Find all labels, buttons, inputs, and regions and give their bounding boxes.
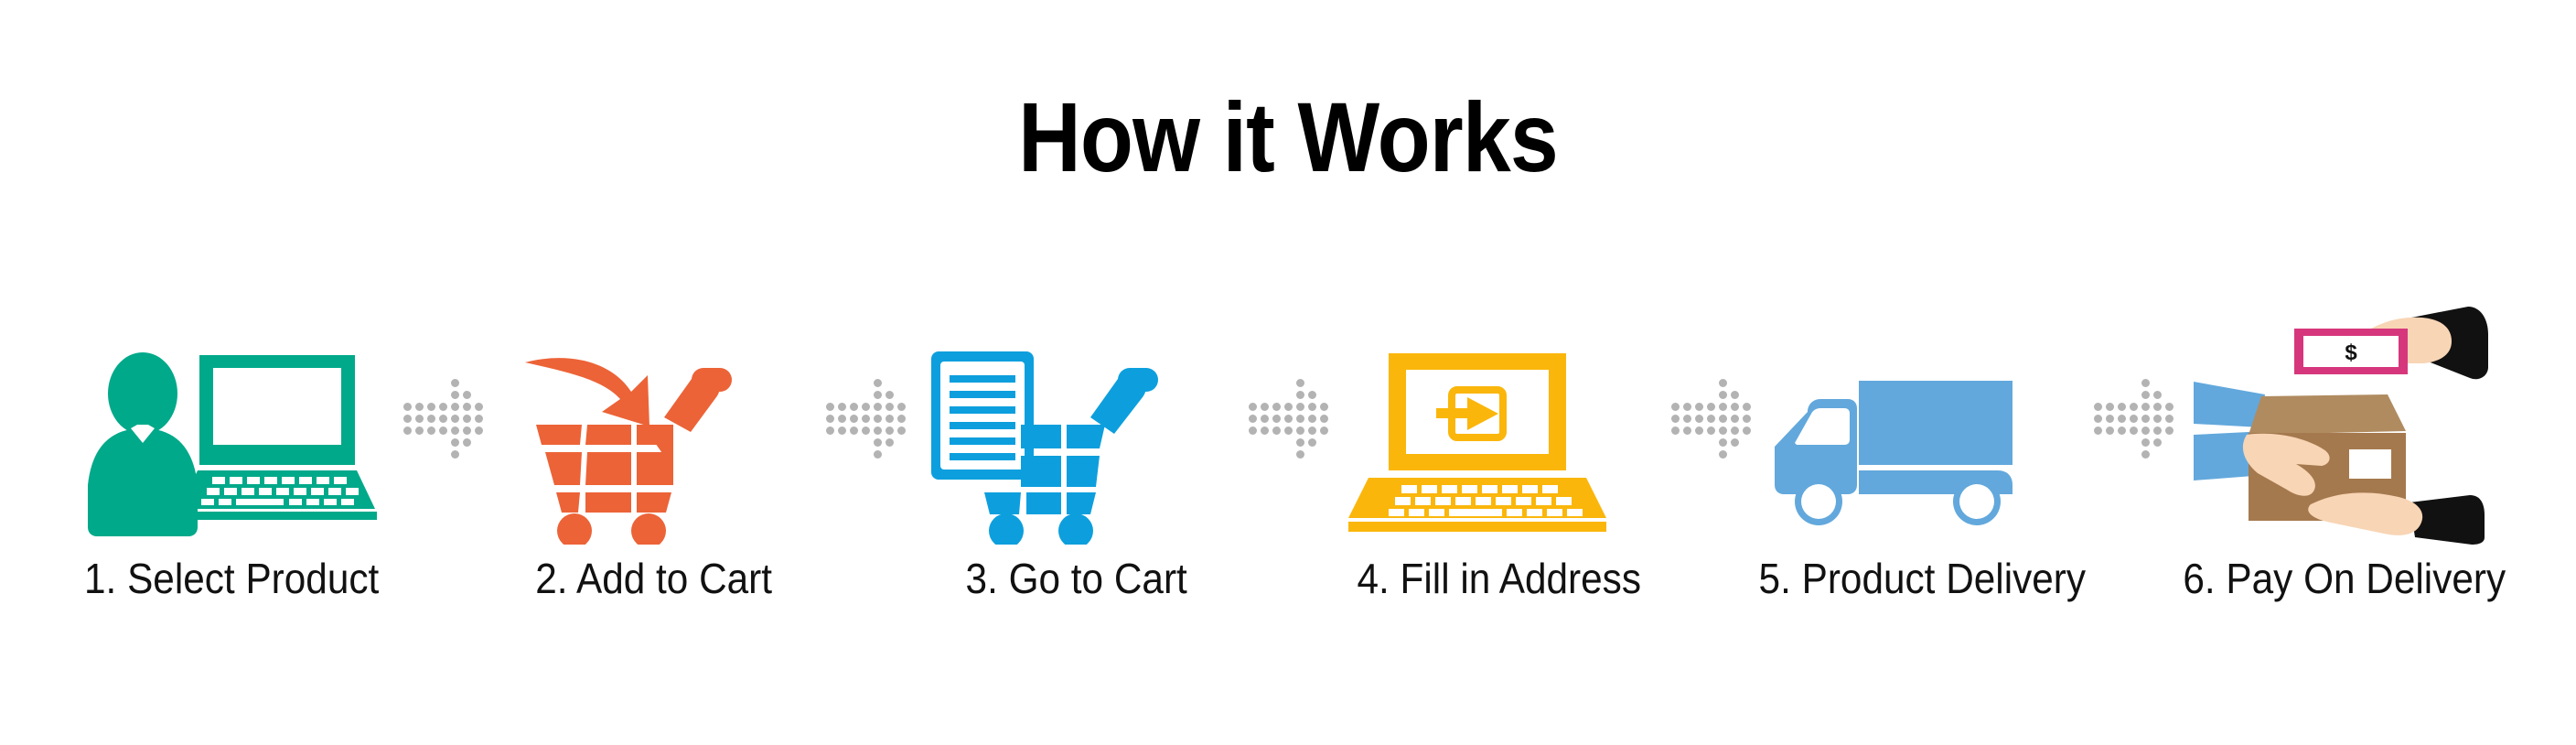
step-3-go-to-cart[interactable]: 3. Go to Cart [894,325,1260,599]
step-4-fill-in-address[interactable]: 4. Fill in Address [1316,325,1682,599]
separator-5 [2105,325,2162,599]
hand-lower [2308,492,2422,535]
step-1-select-product[interactable]: 1. Select Product [48,325,414,599]
step-5-caption: 5. Product Delivery [1758,557,2086,599]
step-5-product-delivery[interactable]: 5. Product Delivery [1739,325,2105,599]
hands-box-and-cash-icon: $ [2194,307,2495,545]
step-1-caption: 1. Select Product [84,557,379,599]
box-label [2349,449,2391,479]
separator-3 [1260,325,1316,599]
laptop-login-icon [1348,348,1650,545]
document-and-cart-icon [926,348,1228,545]
steps-row: 1. Select Product [0,325,2576,599]
step-6-pay-on-delivery[interactable]: $ 6. Pa [2162,325,2528,599]
step-4-caption: 4. Fill in Address [1358,557,1641,599]
infographic-page: How it Works [0,0,2576,745]
separator-1 [414,325,471,599]
separator-4 [1682,325,1739,599]
banknote: $ [2294,329,2408,374]
svg-text:$: $ [2345,340,2357,365]
step-3-caption: 3. Go to Cart [966,557,1187,599]
step-2-caption: 2. Add to Cart [536,557,773,599]
delivery-truck-icon [1771,348,2073,545]
step-6-caption: 6. Pay On Delivery [2184,557,2506,599]
page-title: How it Works [155,88,2421,187]
step-2-add-to-cart[interactable]: 2. Add to Cart [471,325,837,599]
separator-2 [837,325,894,599]
cart-with-arrow-icon [503,348,805,545]
person-at-laptop-icon [80,348,382,545]
